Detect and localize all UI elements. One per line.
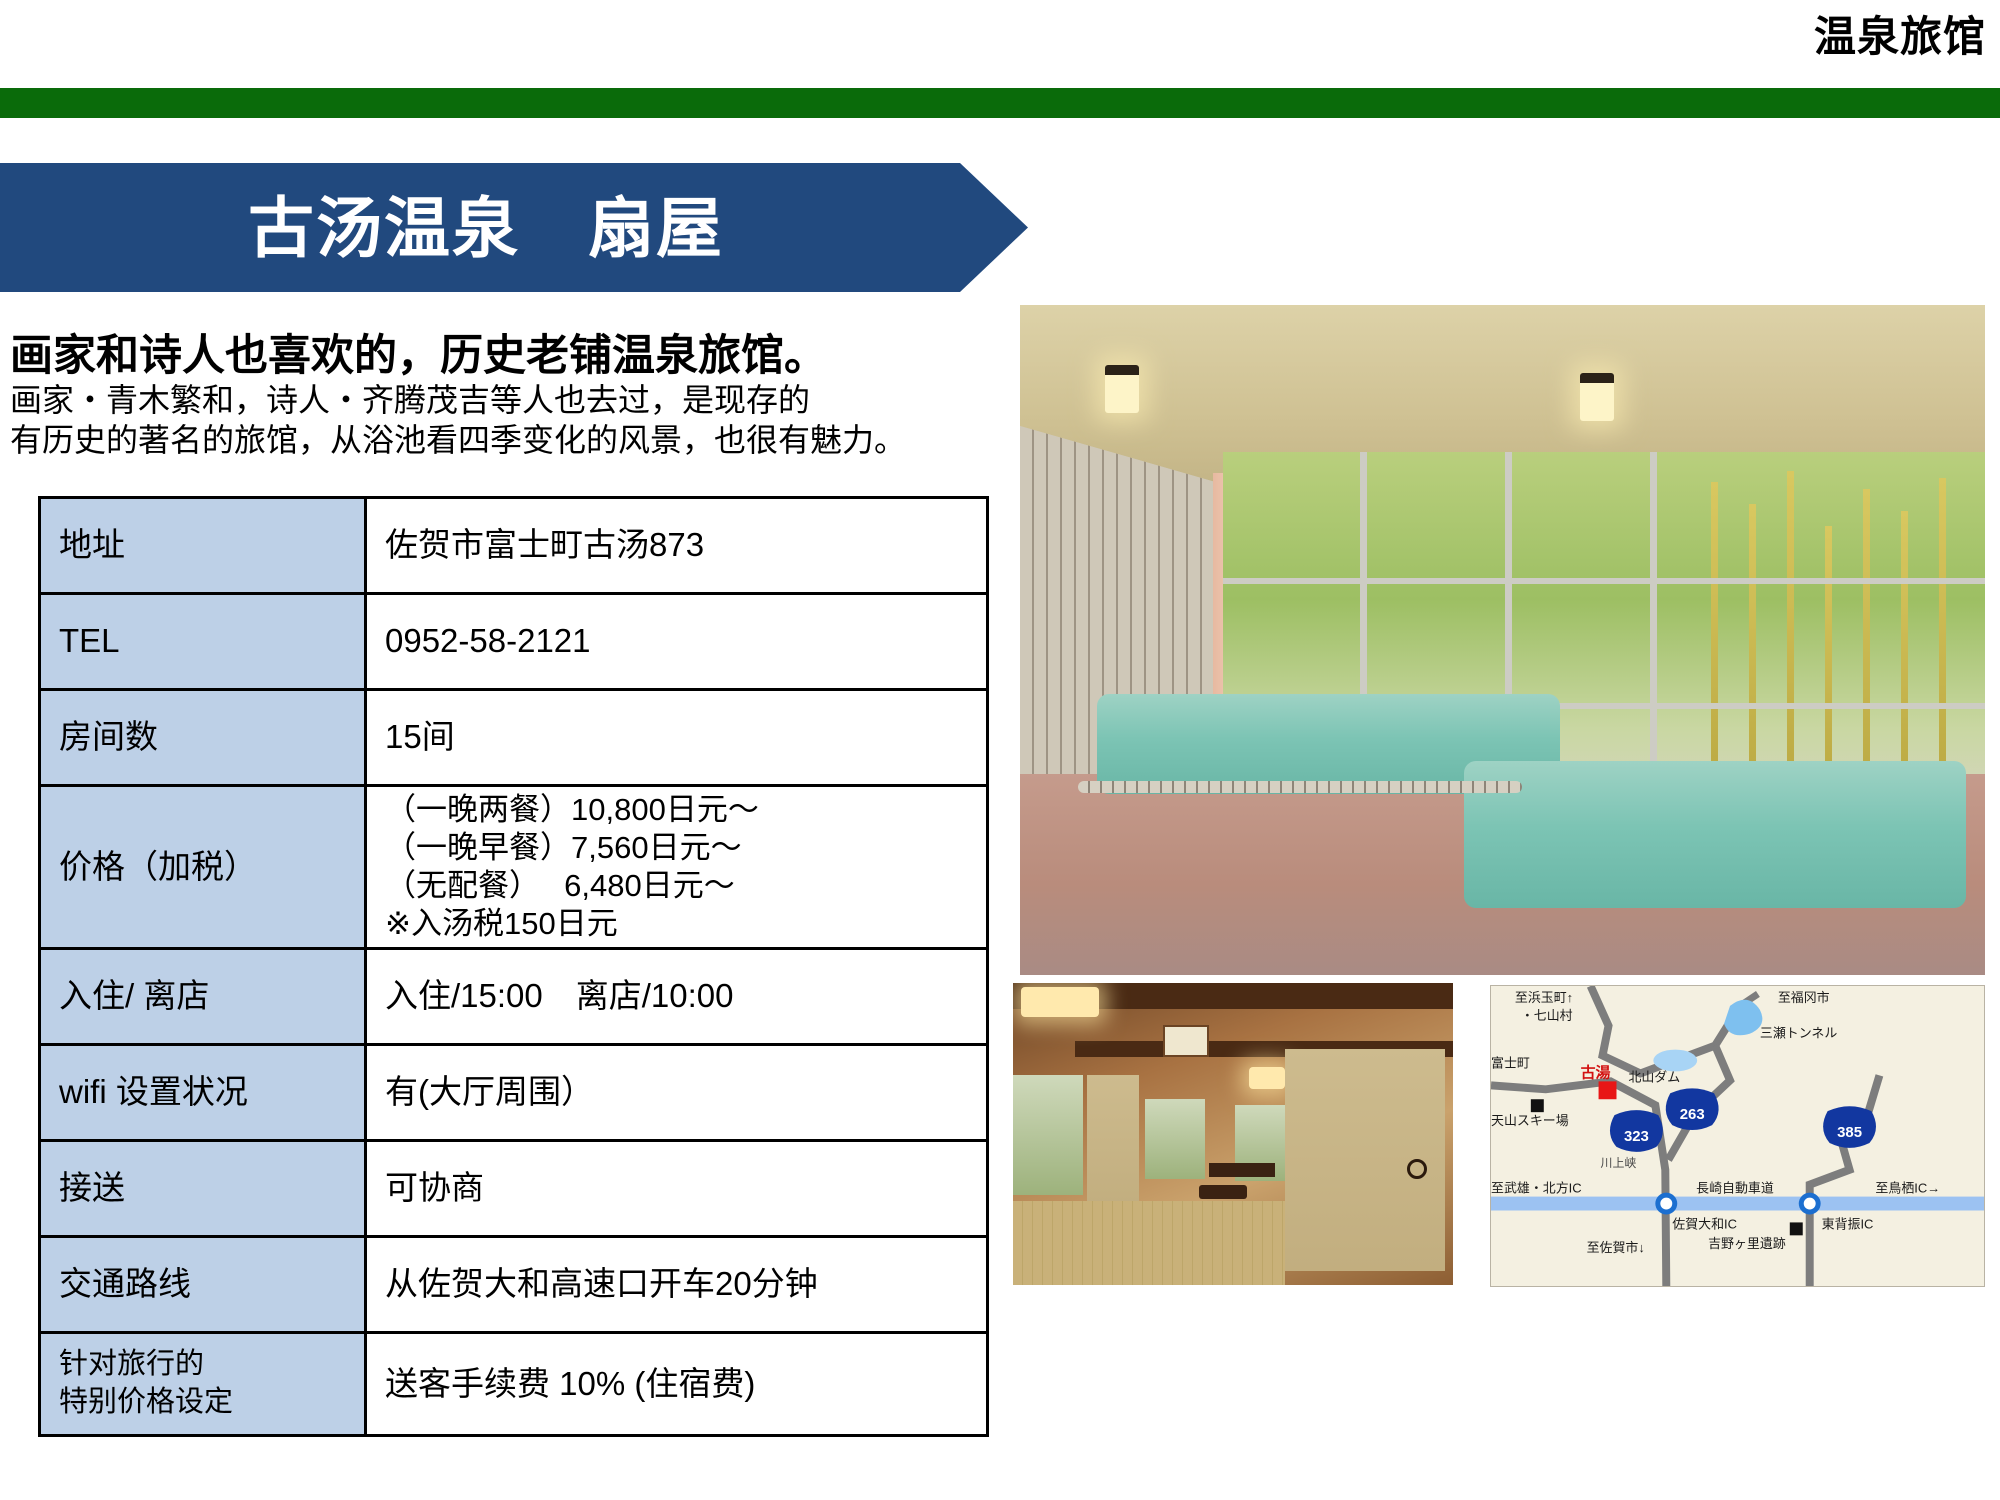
table-row-rooms: 房间数 15间	[40, 690, 988, 786]
room-sliding-door	[1087, 1075, 1139, 1205]
row-label-price: 价格（加税）	[40, 786, 366, 949]
row-value-checkin-checkout: 入住/15:00 离店/10:00	[366, 949, 988, 1045]
map-label-kitayama-dam: 北山ダム	[1628, 1069, 1680, 1084]
map-label-nagasaki-expwy: 長崎自動車道	[1696, 1181, 1774, 1196]
table-row-checkin-checkout: 入住/ 离店 入住/15:00 离店/10:00	[40, 949, 988, 1045]
intro-line-2: 有历史的著名的旅馆，从浴池看四季变化的风景，也很有魅力。	[10, 420, 970, 460]
room-wall-plaque	[1163, 1025, 1209, 1057]
green-divider-rule	[0, 88, 2000, 118]
page-header-title: 温泉旅馆	[1814, 16, 1986, 58]
route-shield-385-label: 385	[1837, 1124, 1862, 1141]
hotel-info-table: 地址 佐贺市富士町古汤873 TEL 0952-58-2121 房间数 15间 …	[38, 496, 989, 1437]
map-label-higashi-sefuri-ic: 東背振IC	[1822, 1216, 1874, 1231]
map-label-tosu: 至鳥栖IC→	[1875, 1181, 1940, 1196]
route-shield-263: 263	[1666, 1088, 1719, 1130]
table-row-tel: TEL 0952-58-2121	[40, 594, 988, 690]
map-label-saga-yamato-ic: 佐賀大和IC	[1672, 1216, 1737, 1231]
room-window	[1013, 1075, 1083, 1195]
room-low-table	[1209, 1163, 1275, 1177]
photo-onsen-bath	[1020, 305, 1985, 975]
map-label-kawakami: 川上峡	[1601, 1156, 1637, 1170]
table-row-wifi: wifi 设置状况 有(大厅周围）	[40, 1045, 988, 1141]
row-value-rooms: 15间	[366, 690, 988, 786]
map-label-saga-city: 至佐賀市↓	[1587, 1240, 1645, 1255]
route-shield-323-label: 323	[1624, 1128, 1649, 1145]
route-shield-263-label: 263	[1680, 1106, 1705, 1123]
table-row-special-price: 针对旅行的 特别价格设定 送客手续费 10% (住宿费)	[40, 1333, 988, 1436]
map-label-mitsuse: 三瀬トンネル	[1760, 1026, 1837, 1041]
area-map-svg: 263 323 385 至浜玉町↑ ・七山村 至福冈市 三瀬トンネル 富士町 古…	[1491, 986, 1984, 1286]
row-label-wifi: wifi 设置状况	[40, 1045, 366, 1141]
row-label-checkin-checkout: 入住/ 离店	[40, 949, 366, 1045]
room-tatami-floor	[1013, 1201, 1285, 1285]
map-label-yoshinogari: 吉野ヶ里遺跡	[1708, 1236, 1786, 1251]
intro-line-1: 画家・青木繁和，诗人・齐腾茂吉等人也去过，是现存的	[10, 380, 970, 420]
route-shield-385: 385	[1823, 1106, 1876, 1148]
room-window	[1145, 1099, 1205, 1179]
photo-area-map: 263 323 385 至浜玉町↑ ・七山村 至福冈市 三瀬トンネル 富士町 古…	[1490, 985, 1985, 1287]
row-label-pickup: 接送	[40, 1141, 366, 1237]
row-label-access: 交通路线	[40, 1237, 366, 1333]
route-shield-323: 323	[1610, 1110, 1663, 1152]
map-marker-yoshinogari	[1790, 1222, 1803, 1235]
map-label-fujicho: 富士町	[1491, 1055, 1530, 1070]
row-value-price: （一晚两餐）10,800日元～ （一晚早餐）7,560日元～ （无配餐） 6,4…	[366, 786, 988, 949]
map-label-furuyu: 古湯	[1581, 1063, 1611, 1081]
title-banner: 古汤温泉 扇屋	[0, 163, 1028, 292]
row-value-address: 佐贺市富士町古汤873	[366, 498, 988, 594]
row-value-tel: 0952-58-2121	[366, 594, 988, 690]
row-value-pickup: 可协商	[366, 1141, 988, 1237]
intro-headline: 画家和诗人也喜欢的，历史老铺温泉旅馆。	[10, 332, 970, 380]
map-label-hamatama: 至浜玉町↑	[1515, 990, 1573, 1005]
table-row-access: 交通路线 从佐贺大和高速口开车20分钟	[40, 1237, 988, 1333]
map-label-takeo: 至武雄・北方IC	[1491, 1181, 1582, 1196]
room-floor-cushion	[1199, 1185, 1247, 1199]
ceiling-lamp-icon	[1580, 373, 1614, 421]
ceiling-lamp-icon	[1105, 365, 1139, 413]
intro-block: 画家和诗人也喜欢的，历史老铺温泉旅馆。 画家・青木繁和，诗人・齐腾茂吉等人也去过…	[10, 332, 970, 460]
row-value-access: 从佐贺大和高速口开车20分钟	[366, 1237, 988, 1333]
table-row-price: 价格（加税） （一晚两餐）10,800日元～ （一晚早餐）7,560日元～ （无…	[40, 786, 988, 949]
room-lamp-icon	[1021, 987, 1099, 1017]
row-label-special-price: 针对旅行的 特别价格设定	[40, 1333, 366, 1436]
row-value-special-price: 送客手续费 10% (住宿费)	[366, 1333, 988, 1436]
room-lamp-icon	[1249, 1067, 1285, 1089]
map-label-tenzan-ski: 天山スキー場	[1491, 1113, 1569, 1128]
row-label-tel: TEL	[40, 594, 366, 690]
row-value-wifi: 有(大厅周围）	[366, 1045, 988, 1141]
table-row-address: 地址 佐贺市富士町古汤873	[40, 498, 988, 594]
map-label-fukuoka: 至福冈市	[1778, 990, 1830, 1005]
photo-guest-room	[1013, 983, 1453, 1285]
bath-pool-lower	[1464, 761, 1966, 908]
map-marker-furuyu	[1599, 1081, 1617, 1099]
bath-pool-rim	[1078, 781, 1522, 793]
row-label-rooms: 房间数	[40, 690, 366, 786]
title-banner-text: 古汤温泉 扇屋	[248, 195, 724, 261]
map-label-nanayama: ・七山村	[1521, 1008, 1573, 1023]
map-marker-tenzan	[1531, 1099, 1544, 1112]
table-row-pickup: 接送 可协商	[40, 1141, 988, 1237]
row-label-address: 地址	[40, 498, 366, 594]
sliding-door-handle-icon	[1407, 1159, 1427, 1179]
